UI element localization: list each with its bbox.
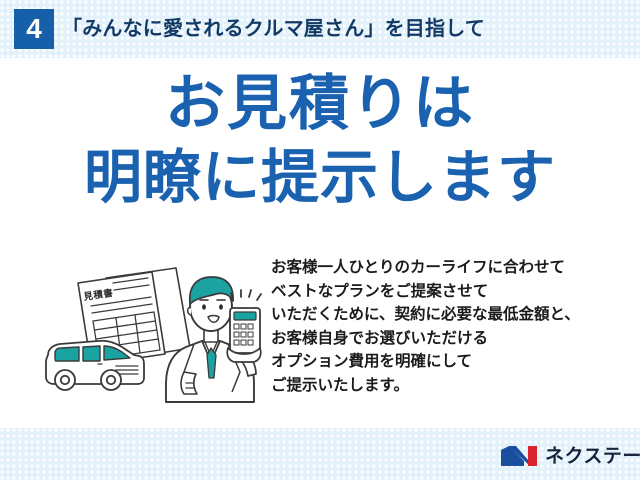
body-copy-line: お客様一人ひとりのカーライフに合わせて bbox=[271, 256, 631, 280]
body-copy-line: オプション費用を明確にして bbox=[271, 350, 631, 374]
headline-line-1: お見積りは bbox=[0, 74, 640, 134]
illustration-salesman-quote-van: 見積書 bbox=[34, 252, 272, 428]
promo-banner: 4 「みんなに愛されるクルマ屋さん」を目指して お見積りは 明瞭に提示します お… bbox=[0, 0, 640, 480]
body-copy-line: ベストなプランをご提案させて bbox=[271, 280, 631, 304]
headline-line-2: 明瞭に提示します bbox=[0, 149, 640, 207]
header-title: 「みんなに愛されるクルマ屋さん」を目指して bbox=[62, 13, 485, 45]
body-copy-line: いただくために、契約に必要な最低金額と、 bbox=[271, 303, 631, 327]
body-copy-line: ご提示いたします。 bbox=[271, 374, 631, 398]
body-copy-line: お客様自身でお選びいただける bbox=[271, 327, 631, 351]
sparkle-icon bbox=[231, 290, 261, 300]
headline: お見積りは 明瞭に提示します bbox=[0, 74, 640, 207]
nextage-wordmark: ネクステージ bbox=[545, 444, 640, 470]
nextage-n-logo-icon bbox=[500, 444, 538, 470]
body-copy: お客様一人ひとりのカーライフに合わせて ベストなプランをご提案させて いただくた… bbox=[271, 256, 631, 398]
step-number-badge: 4 bbox=[14, 9, 54, 49]
footer-logo: ネクステージ bbox=[500, 443, 640, 471]
